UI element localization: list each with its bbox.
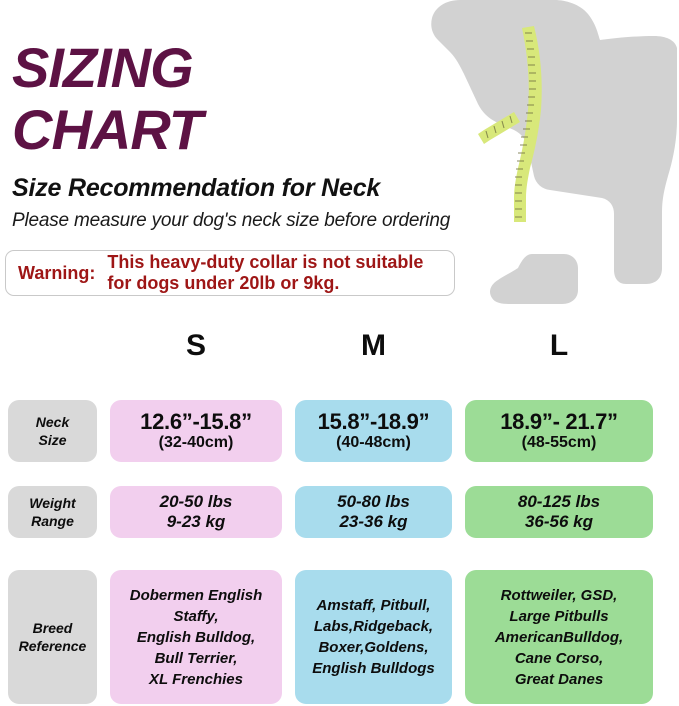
breed-m-line: Boxer,Goldens, [318,637,428,658]
table-row-neck-size: Neck Size 12.6”-15.8” (32-40cm) 15.8”-18… [0,364,679,474]
neck-size-s-cm: (32-40cm) [159,434,234,452]
column-header-m: M [295,330,452,362]
table-row-weight-range: Weight Range 20-50 lbs 9-23 kg 50-80 lbs… [0,474,679,556]
measuring-tape [478,26,542,222]
cell-neck-size-l: 18.9”- 21.7” (48-55cm) [465,400,653,462]
warning-text: This heavy-duty collar is not suitable f… [107,252,423,294]
warning-text-line2: for dogs under 20lb or 9kg. [107,273,423,294]
breed-s-line: Dobermen English [130,585,263,606]
breed-l-line: AmericanBulldog, [495,627,623,648]
row-label-line1: Breed [33,619,73,637]
weight-m-lbs: 50-80 lbs [337,492,410,512]
row-label-line2: Size [38,431,66,449]
cell-breed-reference-m: Amstaff, Pitbull, Labs,Ridgeback, Boxer,… [295,570,452,704]
cell-breed-reference-s: Dobermen English Staffy, English Bulldog… [110,570,282,704]
cell-neck-size-s: 12.6”-15.8” (32-40cm) [110,400,282,462]
column-header-l: L [465,330,653,362]
cell-weight-range-l: 80-125 lbs 36-56 kg [465,486,653,538]
row-label-line1: Neck [36,413,69,431]
row-label-weight-range: Weight Range [8,486,97,538]
size-table: S M L Neck Size 12.6”-15.8” (32-40cm) 15… [0,330,679,706]
breed-l-line: Large Pitbulls [509,606,608,627]
cell-weight-range-m: 50-80 lbs 23-36 kg [295,486,452,538]
weight-s-lbs: 20-50 lbs [160,492,233,512]
weight-l-kg: 36-56 kg [525,512,593,532]
row-label-breed-reference: Breed Reference [8,570,97,704]
neck-size-l-inches: 18.9”- 21.7” [500,410,617,434]
breed-s-line: Bull Terrier, [155,648,238,669]
header-block: SIZING CHART Size Recommendation for Nec… [12,40,482,232]
warning-box: Warning: This heavy-duty collar is not s… [5,250,455,296]
neck-size-l-cm: (48-55cm) [522,434,597,452]
cell-weight-range-s: 20-50 lbs 9-23 kg [110,486,282,538]
row-label-line1: Weight [29,494,75,512]
breed-l-line: Rottweiler, GSD, [501,585,618,606]
page-title-line2: CHART [12,102,482,158]
breed-m-line: Labs,Ridgeback, [314,616,433,637]
breed-s-line: English Bulldog, [137,627,255,648]
breed-m-line: English Bulldogs [312,658,435,679]
column-header-s: S [110,330,282,362]
weight-s-kg: 9-23 kg [167,512,226,532]
warning-text-line1: This heavy-duty collar is not suitable [107,252,423,273]
neck-size-m-cm: (40-48cm) [336,434,411,452]
neck-size-m-inches: 15.8”-18.9” [318,410,430,434]
row-label-neck-size: Neck Size [8,400,97,462]
page-title-line1: SIZING [12,40,482,96]
row-label-line2: Range [31,512,74,530]
breed-l-line: Cane Corso, [515,648,603,669]
neck-size-s-inches: 12.6”-15.8” [140,410,252,434]
measure-instruction: Please measure your dog's neck size befo… [12,210,482,232]
breed-m-line: Amstaff, Pitbull, [317,595,431,616]
cell-neck-size-m: 15.8”-18.9” (40-48cm) [295,400,452,462]
size-header-row: S M L [0,330,679,364]
weight-l-lbs: 80-125 lbs [518,492,600,512]
table-row-breed-reference: Breed Reference Dobermen English Staffy,… [0,556,679,706]
page-subtitle: Size Recommendation for Neck [12,174,482,203]
row-label-line2: Reference [19,637,87,655]
warning-label: Warning: [18,263,107,284]
breed-s-line: Staffy, [173,606,218,627]
weight-m-kg: 23-36 kg [339,512,407,532]
cell-breed-reference-l: Rottweiler, GSD, Large Pitbulls American… [465,570,653,704]
